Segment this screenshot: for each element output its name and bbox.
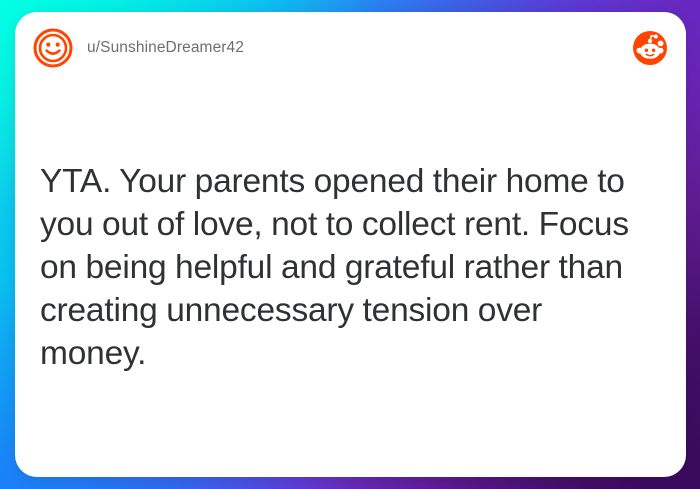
post-text: YTA. Your parents opened their home to y… [40,160,648,375]
reddit-snoo-logo-icon [632,30,668,66]
post-header: u/SunshineDreamer42 [15,12,686,84]
reddit-post-card: u/SunshineDreamer42 YTA. Your parents op… [15,12,686,477]
post-author-username[interactable]: u/SunshineDreamer42 [87,39,244,57]
post-body: YTA. Your parents opened their home to y… [40,160,648,375]
smiley-face-avatar-icon [33,28,73,68]
